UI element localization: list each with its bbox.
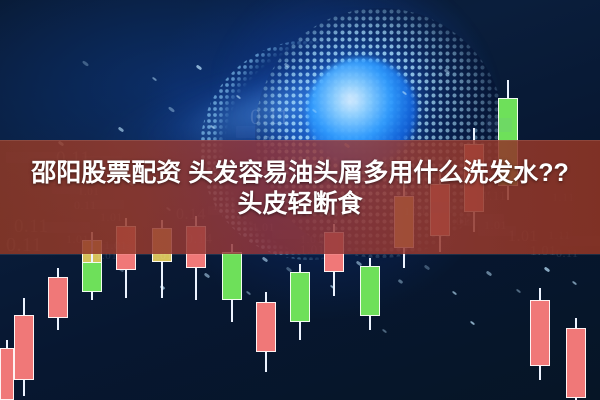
candlestick bbox=[290, 264, 310, 340]
candle-body bbox=[222, 252, 242, 300]
candlestick bbox=[0, 340, 14, 400]
candle-body bbox=[290, 272, 310, 322]
candlestick bbox=[14, 298, 34, 396]
candlestick bbox=[566, 318, 586, 400]
banner-image: 0.110.210.111.011.010.111.010.111.010.11… bbox=[0, 0, 600, 400]
candle-body bbox=[566, 328, 586, 398]
candle-body bbox=[360, 266, 380, 316]
banner-bottom-seam bbox=[0, 254, 600, 255]
candle-body bbox=[82, 262, 102, 292]
banner-title: 邵阳股票配资 头发容易油头屑多用什么洗发水?? 头皮轻断食 bbox=[0, 158, 600, 219]
candle-body bbox=[530, 300, 550, 366]
candlestick bbox=[48, 268, 68, 330]
title-line-1: 邵阳股票配资 头发容易油头屑多用什么洗发水?? bbox=[8, 158, 592, 189]
banner-top-seam bbox=[0, 140, 600, 141]
candlestick bbox=[222, 244, 242, 322]
candle-body bbox=[14, 315, 34, 380]
candlestick bbox=[530, 288, 550, 380]
candlestick bbox=[256, 292, 276, 372]
candle-body bbox=[0, 348, 14, 400]
title-line-2: 头皮轻断食 bbox=[8, 189, 592, 220]
candle-body bbox=[256, 302, 276, 352]
candle-body bbox=[48, 277, 68, 318]
candlestick bbox=[360, 258, 380, 330]
